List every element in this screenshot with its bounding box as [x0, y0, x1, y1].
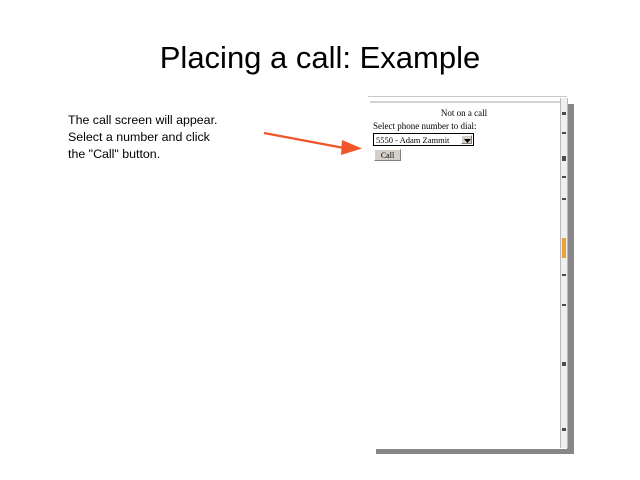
call-screen-surface: Not on a call Select phone number to dia… [368, 96, 567, 449]
scrollbar-mark [562, 112, 566, 115]
pointer-arrow-icon [258, 122, 368, 160]
vertical-scrollbar[interactable] [560, 98, 568, 448]
scrollbar-mark [562, 156, 566, 161]
call-status-text: Not on a call [368, 108, 560, 118]
instruction-line: Select a number and click [68, 129, 268, 146]
top-divider [370, 101, 560, 103]
page-title: Placing a call: Example [0, 40, 640, 76]
phone-number-selected-value: 5550 - Adam Zammit [376, 135, 449, 145]
chevron-down-icon[interactable] [461, 135, 472, 144]
scrollbar-mark [562, 362, 566, 366]
phone-number-select[interactable]: 5550 - Adam Zammit [373, 133, 474, 146]
screenshot-shadow-right [567, 104, 574, 454]
scrollbar-mark [562, 274, 566, 276]
embedded-app-screenshot: Not on a call Select phone number to dia… [368, 96, 574, 454]
call-button[interactable]: Call [374, 149, 401, 161]
scrollbar-mark [562, 428, 566, 431]
scrollbar-mark [562, 198, 566, 200]
instruction-line: the "Call" button. [68, 146, 268, 163]
scrollbar-mark [562, 132, 566, 134]
scrollbar-mark [562, 304, 566, 306]
scrollbar-mark [562, 176, 566, 178]
scrollbar-thumb[interactable] [562, 238, 566, 258]
phone-number-label: Select phone number to dial: [373, 121, 476, 131]
instruction-text: The call screen will appear. Select a nu… [68, 112, 268, 163]
instruction-line: The call screen will appear. [68, 112, 268, 129]
